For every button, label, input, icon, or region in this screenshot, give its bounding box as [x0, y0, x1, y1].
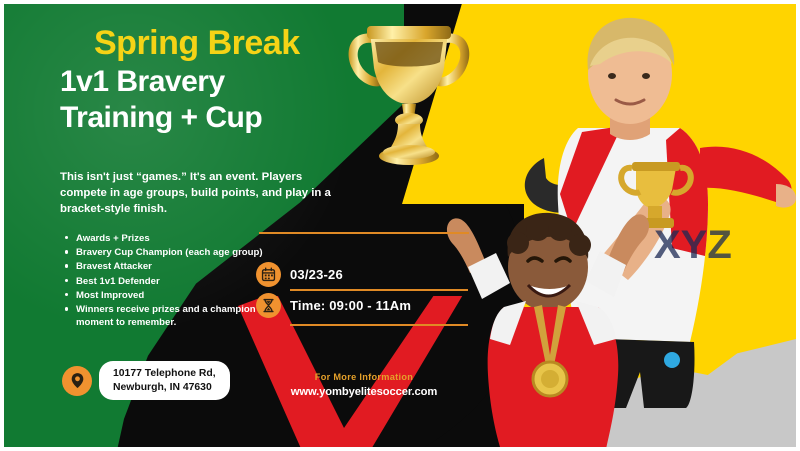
- list-item: Best 1v1 Defender: [76, 275, 276, 288]
- page-title-spring-break: Spring Break: [60, 26, 360, 61]
- hourglass-icon: [256, 293, 281, 318]
- website-url[interactable]: www.yombyelitesoccer.com: [274, 386, 454, 398]
- prize-list: Awards + Prizes Bravery Cup Champion (ea…: [62, 232, 276, 331]
- page-title-1v1-bravery: 1v1 Bravery: [60, 67, 360, 98]
- title-block: Spring Break 1v1 Bravery Training + Cup: [60, 26, 360, 134]
- event-description: This isn't just “games.” It's an event. …: [60, 169, 342, 218]
- event-info-block: 03/23-26 Time: 09:00 - 11Am: [256, 262, 476, 324]
- list-item: Most Improved: [76, 289, 276, 302]
- event-time-underline: [290, 324, 468, 326]
- list-item: Bravery Cup Champion (each age group): [76, 246, 276, 259]
- list-item: Bravest Attacker: [76, 260, 276, 273]
- more-info-label: For More Information: [274, 372, 454, 382]
- event-date-row: 03/23-26: [256, 262, 476, 287]
- page-title-training-cup: Training + Cup: [60, 103, 360, 134]
- address-line-1: 10177 Telephone Rd,: [113, 368, 216, 379]
- address-line-2: Newburgh, IN 47630: [113, 382, 212, 393]
- event-time-text: Time: 09:00 - 11Am: [290, 298, 411, 313]
- jersey-logo-text: XYZ: [654, 223, 732, 267]
- address-text: 10177 Telephone Rd, Newburgh, IN 47630: [99, 361, 230, 400]
- event-time-row: Time: 09:00 - 11Am: [256, 293, 476, 318]
- info-divider-line: [259, 232, 469, 234]
- calendar-icon: [256, 262, 281, 287]
- address-block: 10177 Telephone Rd, Newburgh, IN 47630: [62, 361, 230, 400]
- list-item: Awards + Prizes: [76, 232, 276, 245]
- list-item: Winners receive prizes and a champion mo…: [76, 303, 276, 329]
- flyer-poster: XYZ: [0, 0, 800, 451]
- event-date-underline: [290, 289, 468, 291]
- event-date-text: 03/23-26: [290, 267, 343, 282]
- flyer-content: Spring Break 1v1 Bravery Training + Cup …: [4, 4, 474, 451]
- website-block: For More Information www.yombyelitesocce…: [274, 372, 454, 398]
- location-pin-icon: [62, 366, 92, 396]
